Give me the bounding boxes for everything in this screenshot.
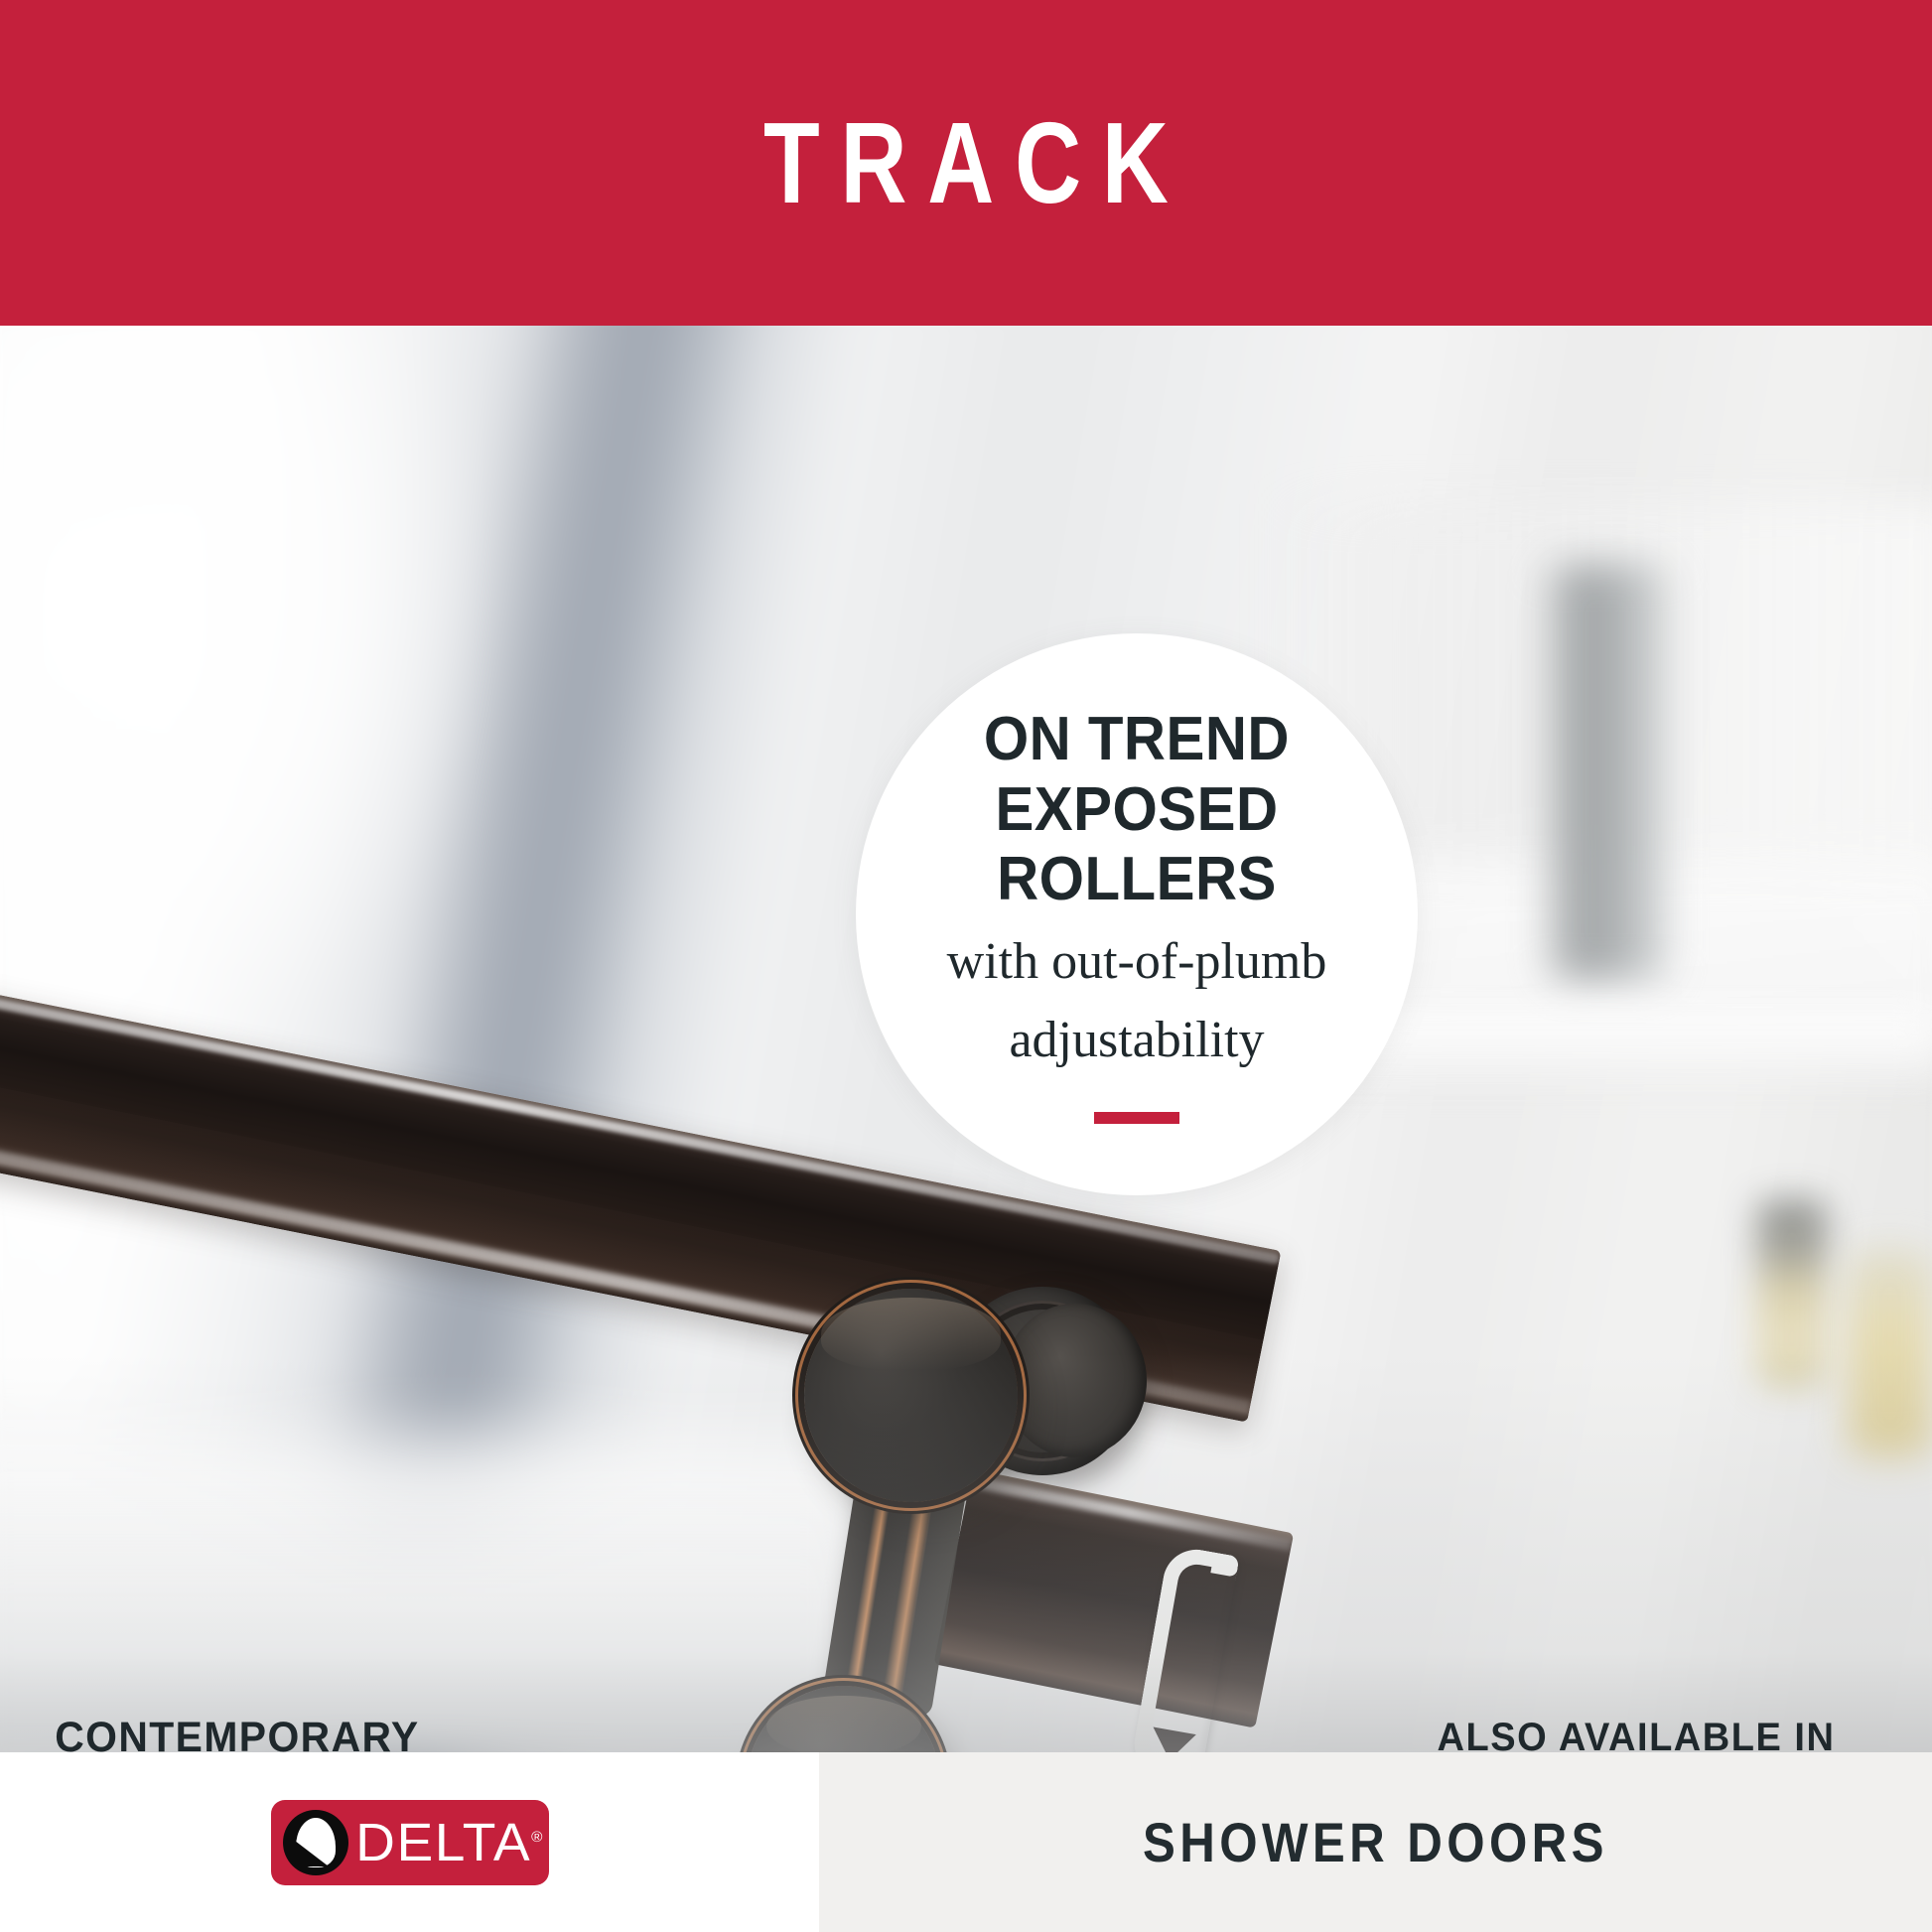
badge-headline-line1: ON TREND — [984, 705, 1290, 774]
product-photo: ON TREND EXPOSED ROLLERS with out-of-plu… — [0, 326, 1932, 1752]
badge-headline-line2: EXPOSED ROLLERS — [915, 775, 1358, 914]
finish-options-title: ALSO AVAILABLE IN — [1401, 1716, 1872, 1752]
footer-category-label: SHOWER DOORS — [1143, 1810, 1608, 1874]
badge-subhead-line2: adjustability — [1009, 1009, 1264, 1071]
footer-brand-area: DELTA® — [0, 1752, 819, 1932]
product-caption-line1: CONTEMPORARY — [55, 1711, 404, 1752]
footer-category-area: SHOWER DOORS — [819, 1752, 1932, 1932]
delta-wordmark: DELTA® — [355, 1816, 542, 1869]
feature-callout-badge: ON TREND EXPOSED ROLLERS with out-of-plu… — [856, 633, 1418, 1195]
header-banner: TRACK — [0, 0, 1932, 326]
badge-subhead-line1: with out-of-plumb — [947, 930, 1327, 993]
registered-trademark-icon: ® — [531, 1829, 542, 1846]
delta-logo[interactable]: DELTA® — [271, 1800, 549, 1885]
product-marketing-card: TRACK — [0, 0, 1932, 1932]
delta-droplet-icon — [283, 1810, 348, 1875]
page-title: TRACK — [743, 105, 1189, 220]
footer-bar: DELTA® SHOWER DOORS — [0, 1752, 1932, 1932]
delta-wordmark-text: DELTA — [355, 1813, 531, 1872]
product-caption: CONTEMPORARY TRACK IN BRONZE — [55, 1711, 404, 1752]
droplet-wedge-shape — [295, 1841, 329, 1866]
finish-options: ALSO AVAILABLE IN CHROME BRUSHED NICKEL … — [1388, 1716, 1884, 1752]
badge-accent-rule — [1094, 1112, 1179, 1124]
